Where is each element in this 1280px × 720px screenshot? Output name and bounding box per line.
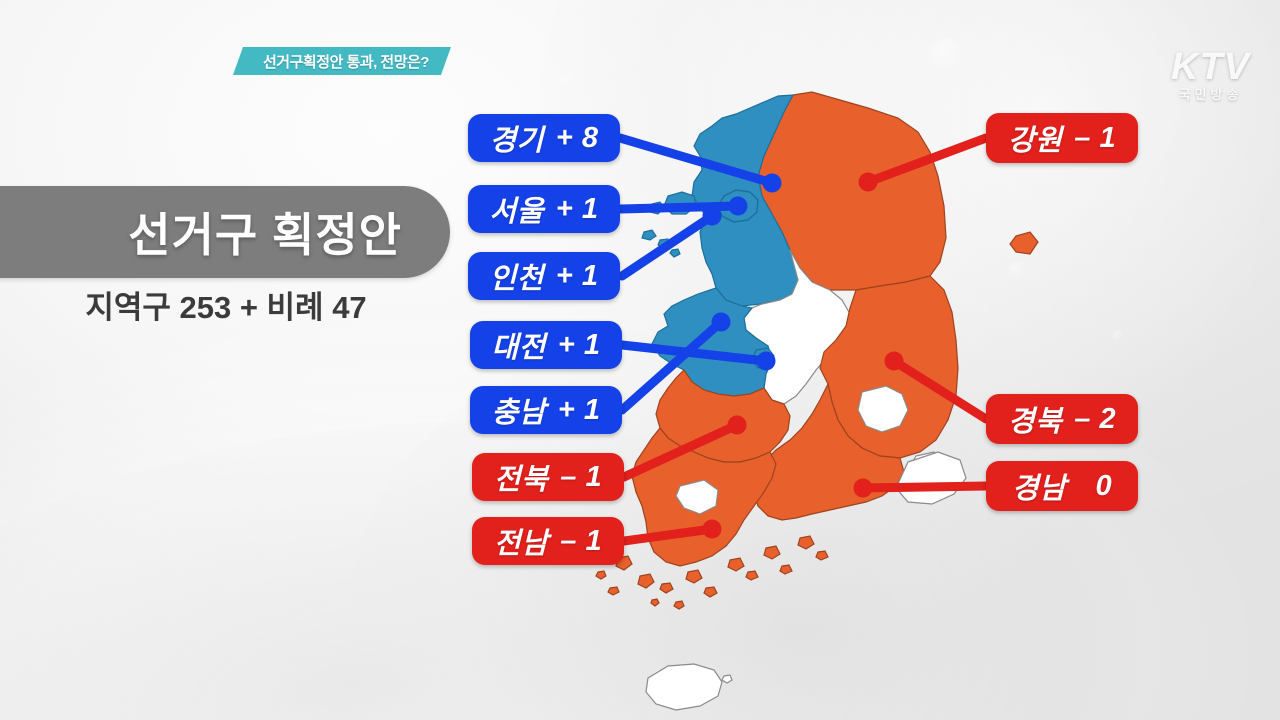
leader-dot-seoul — [729, 197, 748, 216]
callout-region-name: 경북 — [1008, 398, 1062, 440]
leader-dot-jeonbuk — [728, 416, 747, 435]
map-region-incheon-islet — [650, 202, 664, 214]
bokeh-dot — [930, 38, 964, 72]
topic-banner-text: 선거구획정안 통과, 전망은? — [263, 51, 429, 72]
map-island-jeju-islet — [722, 675, 732, 683]
leader-line-jeonnam — [624, 529, 712, 541]
map-inset-white — [908, 452, 946, 488]
background-swoosh — [0, 356, 931, 720]
callout-delta-value: – 1 — [1074, 122, 1116, 155]
leader-line-gyeongnam — [863, 486, 986, 488]
callout-region-name: 인천 — [490, 255, 544, 297]
leader-dots-red — [703, 173, 904, 539]
callout-incheon: 인천+ 1 — [468, 252, 620, 300]
map-region-incheon-islet — [670, 249, 680, 257]
bokeh-dot — [1112, 330, 1124, 342]
bokeh-dot — [1008, 262, 1026, 280]
map-region-chungnam — [652, 288, 772, 396]
ktv-logo-sub: 국민방송 — [1171, 88, 1250, 101]
leader-dots-blue — [703, 174, 782, 371]
leader-line-gyeonggi — [620, 138, 772, 183]
callout-jeonbuk: 전북– 1 — [472, 453, 624, 501]
map-region-chungbuk — [744, 250, 850, 404]
map-coast-southeast — [896, 452, 966, 504]
leader-line-gangwon — [868, 138, 986, 182]
callout-delta-value: + 1 — [558, 329, 601, 362]
broadcast-graphic: .mb { fill:#2f8fc0; stroke:#1d6f9b; stro… — [0, 0, 1280, 720]
callout-region-name: 전남 — [494, 520, 548, 562]
callout-delta-value: + 8 — [556, 122, 599, 155]
map-region-gangwon — [758, 92, 946, 290]
leader-dot-daejeon — [757, 352, 776, 371]
headline-subtitle: 지역구 253 + 비례 47 — [0, 282, 452, 327]
map-island-jeju — [646, 664, 722, 710]
map-island-ulleungdo — [1010, 232, 1038, 254]
map-region-gyeonggi — [692, 95, 812, 306]
map-region-incheon-islet — [658, 239, 670, 248]
callout-gyeongnam: 경남0 — [986, 461, 1138, 511]
callout-region-name: 전북 — [494, 456, 548, 498]
leader-line-chungnam — [622, 322, 721, 410]
callout-gyeonggi: 경기+ 8 — [468, 114, 620, 162]
map-region-daejeon — [752, 348, 774, 368]
callout-region-name: 경남 — [1012, 465, 1066, 507]
map-region-jeonnam — [632, 428, 776, 566]
leader-line-gyeongbuk — [894, 361, 986, 419]
callout-region-name: 대전 — [492, 324, 546, 366]
leader-dot-gyeongnam — [854, 479, 873, 498]
leader-dot-incheon — [703, 207, 722, 226]
korea-map: .mb { fill:#2f8fc0; stroke:#1d6f9b; stro… — [0, 0, 1280, 720]
callout-region-name: 경기 — [490, 117, 544, 159]
leader-dot-gangwon — [859, 173, 878, 192]
leader-lines-blue — [620, 138, 772, 410]
map-islands-southwest — [596, 536, 828, 609]
background-swoosh — [540, 0, 1280, 520]
leader-line-daejeon — [622, 345, 766, 361]
callout-gyeongbuk: 경북– 2 — [986, 394, 1138, 444]
callout-delta-value: 0 — [1078, 470, 1112, 503]
leader-line-incheon — [622, 216, 712, 276]
callout-chungnam: 충남+ 1 — [470, 386, 622, 434]
callout-seoul: 서울+ 1 — [468, 185, 620, 233]
leader-lines-red — [624, 138, 986, 541]
ktv-logo: KTV 국민방송 — [1171, 48, 1250, 101]
callout-delta-value: – 2 — [1074, 403, 1116, 436]
callout-delta-value: + 1 — [556, 193, 599, 226]
leader-dot-gyeongbuk — [885, 352, 904, 371]
map-region-incheon-islet — [642, 230, 656, 240]
map-inset-white — [676, 480, 718, 514]
map-region-gyeongnam — [754, 384, 904, 520]
leader-dot-jeonnam — [703, 520, 722, 539]
map-inset-white — [858, 386, 908, 432]
callout-gangwon: 강원– 1 — [986, 113, 1138, 163]
leader-dot-chungnam — [712, 313, 731, 332]
callout-region-name: 강원 — [1008, 117, 1062, 159]
callout-region-name: 서울 — [490, 188, 544, 230]
leader-line-jeonbuk — [624, 425, 737, 477]
ktv-logo-mark: KTV — [1171, 48, 1250, 86]
callout-delta-value: + 1 — [556, 260, 599, 293]
map-region-gyeongbuk — [820, 276, 958, 458]
callout-delta-value: + 1 — [558, 394, 601, 427]
map-region-incheon — [664, 192, 696, 214]
callout-delta-value: – 1 — [560, 461, 602, 494]
bokeh-dot — [560, 74, 574, 88]
callout-jeonnam: 전남– 1 — [472, 517, 624, 565]
callout-region-name: 충남 — [492, 389, 546, 431]
map-region-seoul — [718, 190, 758, 222]
topic-banner: 선거구획정안 통과, 전망은? — [233, 47, 451, 75]
page-title: 선거구 획정안 — [128, 199, 402, 265]
leader-line-seoul — [620, 206, 738, 209]
callout-daejeon: 대전+ 1 — [470, 321, 622, 369]
callout-delta-value: – 1 — [560, 525, 602, 558]
leader-dot-gyeonggi — [763, 174, 782, 193]
map-region-jeonbuk — [656, 370, 790, 462]
headline-banner: 선거구 획정안 — [0, 186, 450, 278]
